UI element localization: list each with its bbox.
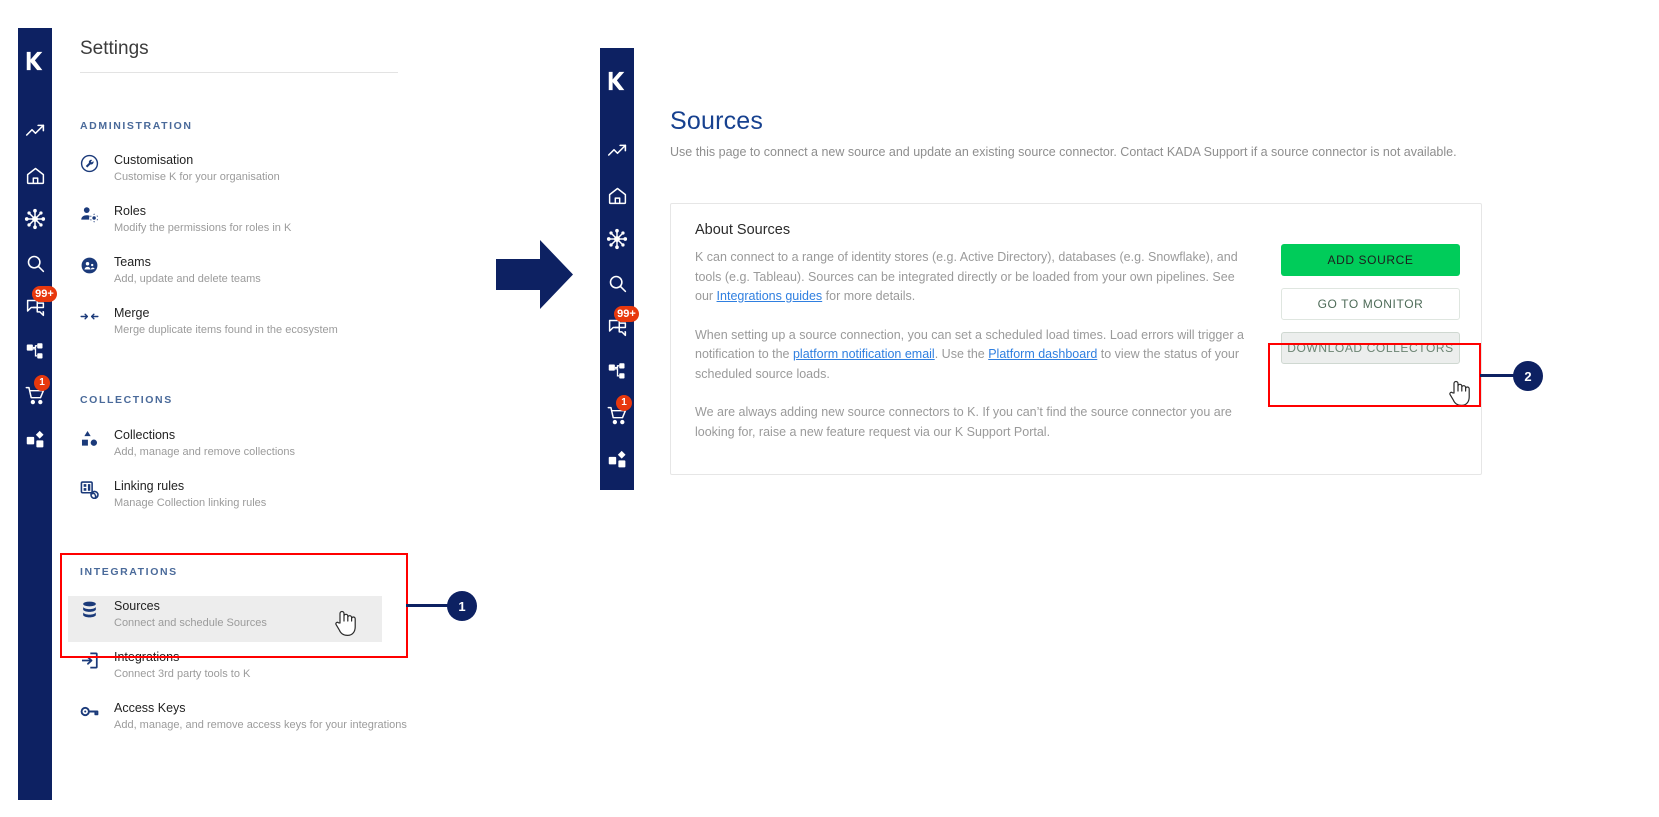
settings-item-subtitle: Manage Collection linking rules [114, 495, 266, 511]
settings-item-title: Teams [114, 254, 261, 270]
k-logo[interactable] [606, 70, 628, 97]
settings-item-subtitle: Add, manage and remove collections [114, 444, 295, 460]
chat-badge: 99+ [32, 286, 57, 302]
left-nav-rail: 99+ 1 [18, 28, 52, 800]
platform-notification-email-link[interactable]: platform notification email [793, 347, 935, 361]
shapes-icon [80, 427, 102, 460]
home-icon[interactable] [595, 173, 639, 217]
chat-icon[interactable]: 99+ [13, 285, 57, 329]
trending-up-icon[interactable] [595, 129, 639, 173]
network-hub-icon[interactable] [595, 217, 639, 261]
card-paragraph-2: When setting up a source connection, you… [695, 326, 1255, 385]
settings-item-title: Merge [114, 305, 338, 321]
add-source-button[interactable]: ADD SOURCE [1281, 244, 1460, 276]
settings-item-subtitle: Connect 3rd party tools to K [114, 666, 250, 682]
settings-item-title: Linking rules [114, 478, 266, 494]
settings-item-collections[interactable]: Collections Add, manage and remove colle… [80, 427, 410, 460]
settings-item-teams[interactable]: Teams Add, update and delete teams [80, 254, 410, 287]
callout-1-leader-line [406, 604, 450, 607]
paragraph-1-text-b: for more details. [822, 289, 915, 303]
settings-item-title: Access Keys [114, 700, 407, 716]
chat-icon[interactable]: 99+ [595, 305, 639, 349]
search-icon[interactable] [13, 241, 57, 285]
paragraph-2-text-b: . Use the [935, 347, 989, 361]
callout-2-badge: 2 [1513, 361, 1543, 391]
settings-item-title: Collections [114, 427, 295, 443]
go-to-monitor-button[interactable]: GO TO MONITOR [1281, 288, 1460, 320]
section-heading-administration: ADMINISTRATION [80, 120, 193, 132]
linking-rules-icon [80, 478, 102, 511]
person-gear-icon [80, 203, 102, 236]
dashboard-icon[interactable] [595, 437, 639, 481]
network-hub-icon[interactable] [13, 197, 57, 241]
page-title-sources: Sources [670, 107, 763, 136]
settings-item-subtitle: Add, update and delete teams [114, 271, 261, 287]
callout-1-badge: 1 [447, 591, 477, 621]
cart-badge: 1 [616, 395, 632, 411]
cart-badge: 1 [34, 375, 50, 391]
card-body: K can connect to a range of identity sto… [695, 248, 1255, 461]
settings-item-linking-rules[interactable]: Linking rules Manage Collection linking … [80, 478, 410, 511]
section-heading-collections: COLLECTIONS [80, 394, 173, 406]
callout-2-highlight-box [1268, 343, 1481, 407]
card-heading: About Sources [695, 222, 790, 238]
sitemap-icon[interactable] [13, 329, 57, 373]
trending-up-icon[interactable] [13, 109, 57, 153]
dashboard-icon[interactable] [13, 417, 57, 461]
about-sources-card: About Sources K can connect to a range o… [670, 203, 1482, 475]
sitemap-icon[interactable] [595, 349, 639, 393]
merge-arrows-icon [80, 305, 102, 338]
k-logo[interactable] [24, 50, 46, 77]
right-nav-rail: 99+ 1 [600, 48, 634, 490]
settings-item-title: Customisation [114, 152, 280, 168]
cart-icon[interactable]: 1 [595, 393, 639, 437]
home-icon[interactable] [13, 153, 57, 197]
settings-item-subtitle: Customise K for your organisation [114, 169, 280, 185]
settings-item-access-keys[interactable]: Access Keys Add, manage, and remove acce… [80, 700, 460, 733]
title-divider [80, 72, 398, 73]
card-paragraph-1: K can connect to a range of identity sto… [695, 248, 1255, 307]
search-icon[interactable] [595, 261, 639, 305]
key-icon [80, 700, 102, 733]
page-title-settings: Settings [80, 38, 149, 60]
wrench-circle-icon [80, 152, 102, 185]
settings-item-merge[interactable]: Merge Merge duplicate items found in the… [80, 305, 420, 338]
integrations-guides-link[interactable]: Integrations guides [717, 289, 823, 303]
card-paragraph-3: We are always adding new source connecto… [695, 403, 1255, 442]
page-subtitle: Use this page to connect a new source an… [670, 143, 1460, 162]
callout-1-highlight-box [60, 553, 408, 658]
cart-icon[interactable]: 1 [13, 373, 57, 417]
settings-item-subtitle: Add, manage, and remove access keys for … [114, 717, 407, 733]
settings-item-subtitle: Merge duplicate items found in the ecosy… [114, 322, 338, 338]
settings-item-roles[interactable]: Roles Modify the permissions for roles i… [80, 203, 410, 236]
screenshot-stage: 99+ 1 Settings ADMINISTRATION Customisat… [0, 0, 1659, 817]
settings-item-title: Roles [114, 203, 291, 219]
platform-dashboard-link[interactable]: Platform dashboard [988, 347, 1097, 361]
settings-item-subtitle: Modify the permissions for roles in K [114, 220, 291, 236]
transition-arrow-icon [492, 232, 577, 322]
settings-item-customisation[interactable]: Customisation Customise K for your organ… [80, 152, 410, 185]
chat-badge: 99+ [614, 306, 639, 322]
teams-circle-icon [80, 254, 102, 287]
